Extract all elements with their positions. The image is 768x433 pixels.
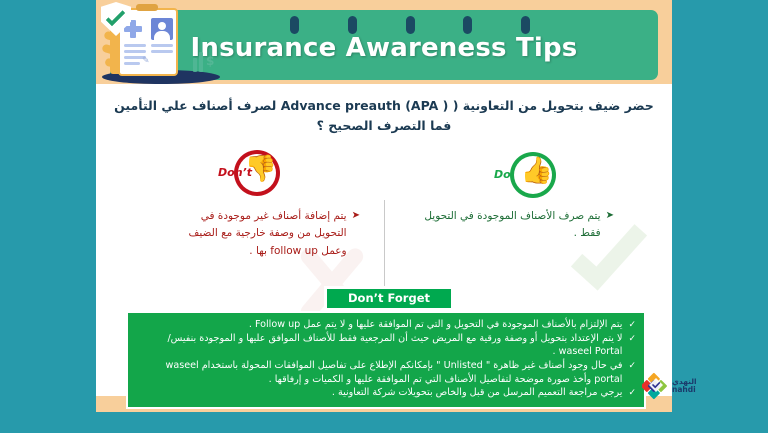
note-text: في حال وجود أصناف غير ظاهرة " Unlisted "… — [136, 359, 622, 386]
do-item-text: يتم صرف الأصناف الموجودة في التحويل فقط … — [404, 208, 601, 243]
nahdi-name-en: nahdi — [672, 386, 697, 394]
arrow-bullet-icon: ➤ — [352, 208, 360, 225]
do-badge: 👍 Do — [494, 152, 556, 200]
question-line-2: فما التصرف الصحيح ؟ — [108, 116, 660, 136]
note-text: لا يتم الإعتداد بتحويل أو وصفة ورقية مع … — [136, 332, 622, 359]
check-icon: ✓ — [628, 318, 636, 332]
note-item: ✓ يتم الإلتزام بالأصناف الموجودة في التح… — [136, 318, 636, 332]
header-dot — [406, 16, 415, 34]
dont-item-text: يتم إضافة أصناف غير موجودة في التحويل من… — [170, 208, 347, 260]
check-icon: ✓ — [628, 359, 636, 373]
header-dot — [290, 16, 299, 34]
list-item: ➤ يتم إضافة أصناف غير موجودة في التحويل … — [170, 208, 360, 260]
dont-column: ➤ يتم إضافة أصناف غير موجودة في التحويل … — [170, 208, 360, 260]
note-text: يتم الإلتزام بالأصناف الموجودة في التحوي… — [136, 318, 622, 332]
arrow-bullet-icon: ➤ — [606, 208, 614, 225]
question-line-1: حضر ضيف بتحويل من التعاونية ( Advance pr… — [108, 96, 660, 116]
check-icon: ✓ — [628, 332, 636, 346]
dont-badge: 👎 Don’t — [218, 150, 280, 198]
header-dot — [463, 16, 472, 34]
list-item: ➤ يتم صرف الأصناف الموجودة في التحويل فق… — [404, 208, 614, 243]
thumbs-up-icon: 👍 — [518, 152, 556, 190]
nahdi-wordmark: النهدي nahdi — [672, 378, 697, 395]
header-dot — [348, 16, 357, 34]
header-dots — [290, 16, 530, 34]
nahdi-logo: النهدي nahdi — [642, 368, 696, 404]
question-text: حضر ضيف بتحويل من التعاونية ( Advance pr… — [108, 96, 660, 136]
note-text: يرجي مراجعة التعميم المرسل من قبل والخاص… — [136, 386, 622, 400]
do-label: Do — [494, 168, 511, 181]
notes-box: ✓ يتم الإلتزام بالأصناف الموجودة في التح… — [126, 311, 646, 409]
note-item: ✓ في حال وجود أصناف غير ظاهرة " Unlisted… — [136, 359, 636, 386]
nahdi-heart-icon — [642, 372, 670, 400]
do-column: ➤ يتم صرف الأصناف الموجودة في التحويل فق… — [404, 208, 614, 243]
dont-label: Don’t — [218, 166, 252, 179]
note-item: ✓ لا يتم الإعتداد بتحويل أو وصفة ورقية م… — [136, 332, 636, 359]
header-dot — [521, 16, 530, 34]
insurance-clipboard-illustration: ✎ $ — [96, 0, 224, 88]
slide-root: Insurance Awareness Tips ✎ $ — [0, 0, 768, 433]
column-divider — [384, 200, 385, 286]
note-item: ✓ يرجي مراجعة التعميم المرسل من قبل والخ… — [136, 386, 636, 400]
check-icon: ✓ — [628, 386, 636, 400]
dont-forget-banner: Don’t Forget — [327, 289, 451, 308]
